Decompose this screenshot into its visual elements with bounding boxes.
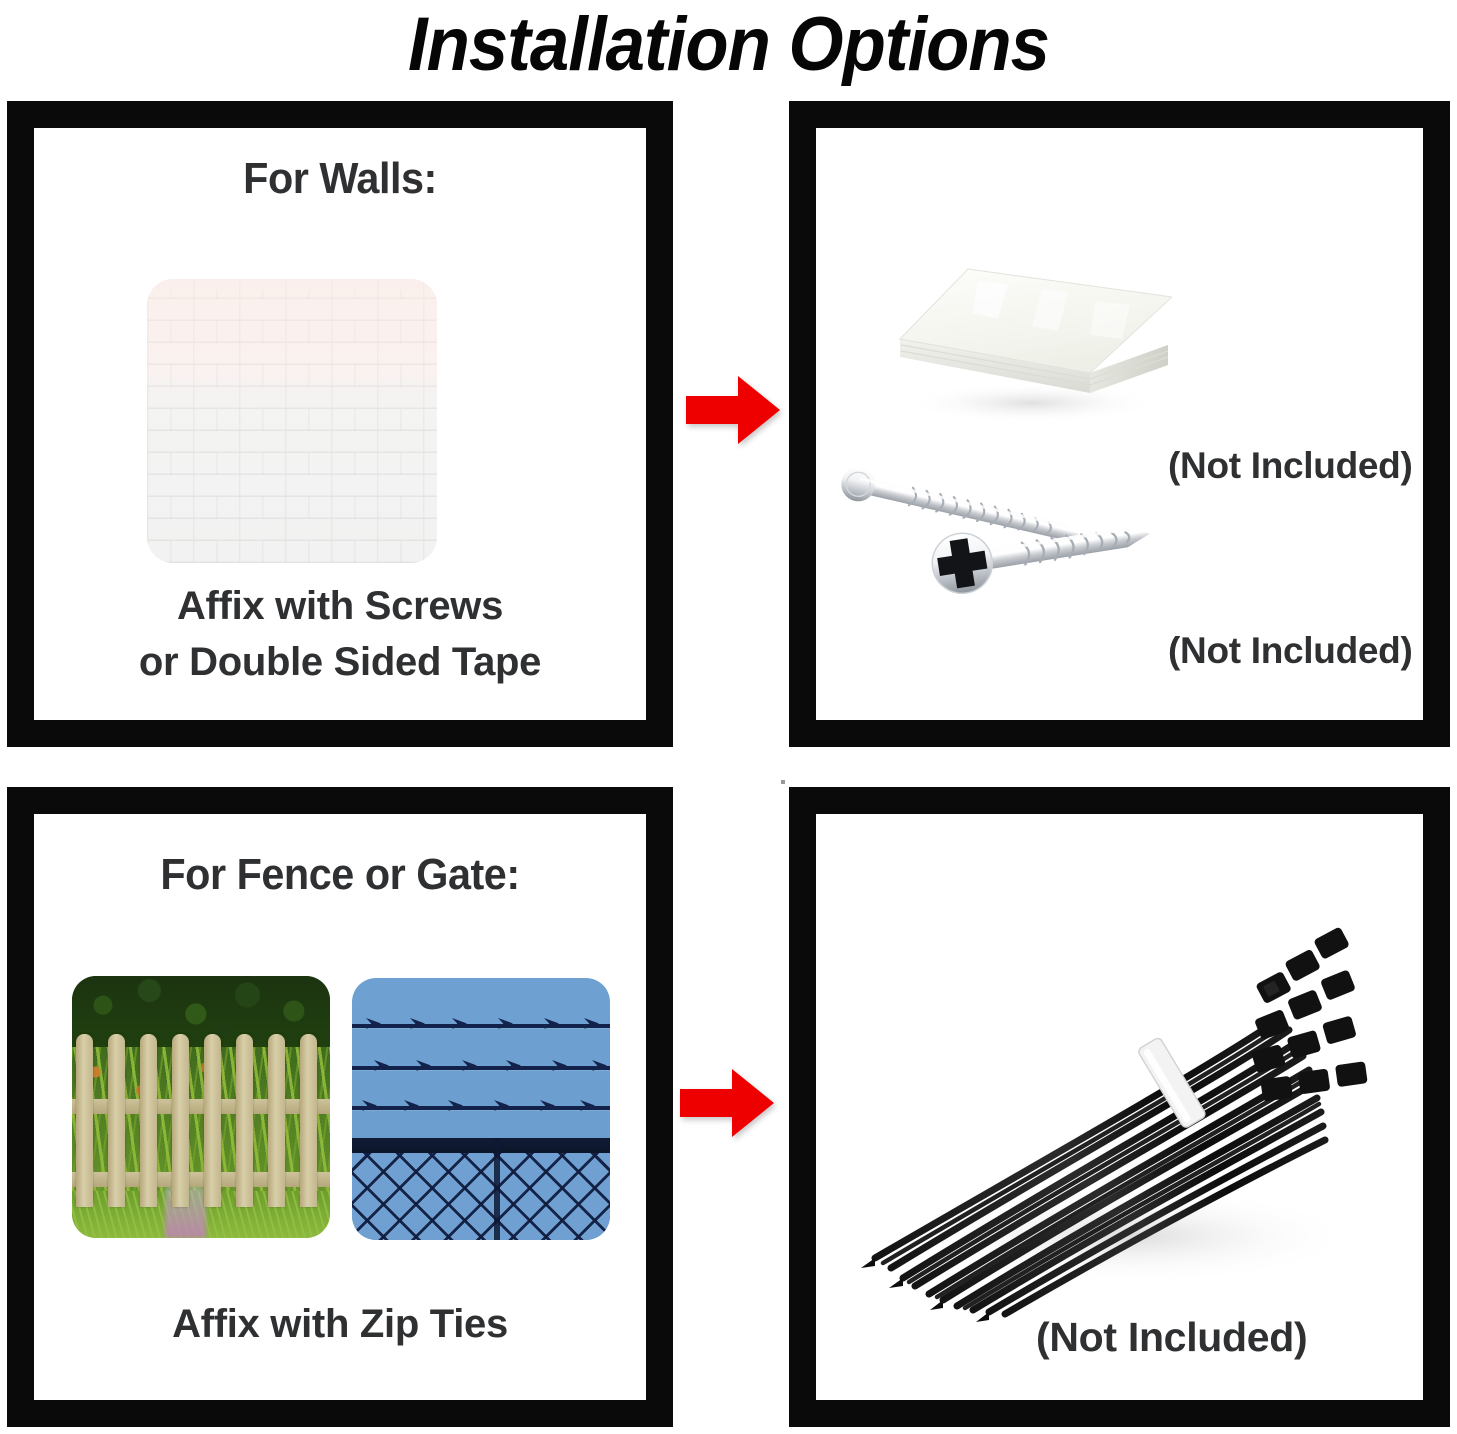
caption-line-2: or Double Sided Tape	[34, 634, 646, 690]
barbed-wire-strand	[352, 1106, 610, 1110]
fence-post	[494, 1138, 500, 1240]
brick-top-tint	[147, 279, 437, 410]
arrow-right-icon	[680, 1065, 774, 1141]
panel-zip-ties: (Not Included)	[789, 787, 1450, 1427]
panel-wall-fixings: (Not Included)	[789, 101, 1450, 747]
stray-artifact-dot	[781, 780, 785, 784]
picket	[236, 1034, 253, 1207]
picket	[268, 1034, 285, 1207]
fence-pickets	[72, 1034, 330, 1207]
screws-not-included-note: (Not Included)	[1168, 630, 1412, 672]
caption-line-1: Affix with Zip Ties	[34, 1296, 646, 1352]
panel-caption-for-walls: Affix with Screws or Double Sided Tape	[34, 578, 646, 690]
picket-fence-image	[72, 976, 330, 1238]
picket	[204, 1034, 221, 1207]
caption-line-1: Affix with Screws	[34, 578, 646, 634]
panel-caption-for-fence: Affix with Zip Ties	[34, 1296, 646, 1352]
barbed-wire-strand	[352, 1066, 610, 1070]
zip-ties-not-included-note: (Not Included)	[1036, 1314, 1307, 1361]
white-brick-wall-image	[147, 279, 437, 563]
panel-for-walls: For Walls: Affix with Screws or Double S…	[7, 101, 673, 747]
picket	[108, 1034, 125, 1207]
picket	[300, 1034, 317, 1207]
page-title: Installation Options	[51, 2, 1406, 88]
picket	[76, 1034, 93, 1207]
zip-ties-bundle-image	[851, 906, 1371, 1326]
arrow-right-icon	[686, 372, 780, 448]
fence-top-rail	[352, 1138, 610, 1153]
wood-screws-image	[836, 453, 1181, 638]
double-sided-tape-stack-image	[882, 253, 1172, 428]
chain-link-mesh	[352, 1153, 610, 1240]
panel-heading-for-fence-or-gate: For Fence or Gate:	[52, 850, 627, 900]
barbed-wire-strand	[352, 1024, 610, 1028]
panel-for-fence-or-gate: For Fence or Gate:	[7, 787, 673, 1427]
panel-heading-for-walls: For Walls:	[52, 154, 627, 204]
tape-not-included-note: (Not Included)	[1168, 445, 1412, 487]
picket	[172, 1034, 189, 1207]
chain-link-barbed-wire-image	[352, 978, 610, 1240]
picket	[140, 1034, 157, 1207]
